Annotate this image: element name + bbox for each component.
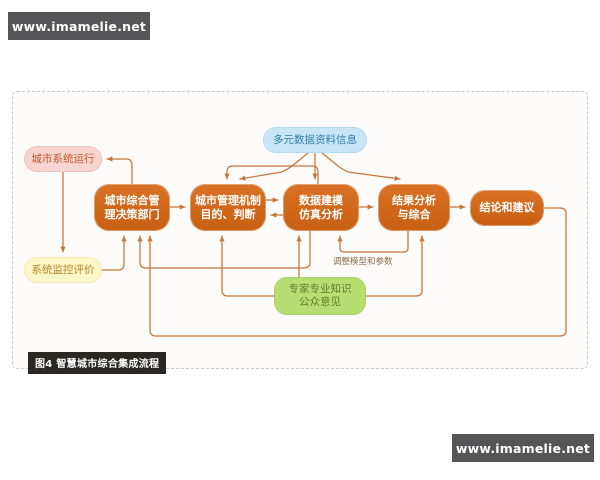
node-data-modeling[interactable]: 数据建模 仿真分析 <box>283 184 359 231</box>
node-conclusion[interactable]: 结论和建议 <box>470 190 544 226</box>
node-data-source[interactable]: 多元数据资料信息 <box>263 127 367 153</box>
node-city-system[interactable]: 城市系统运行 <box>24 146 102 172</box>
diagram-stage: www.imamelie.net www.imamelie.net <box>0 0 600 480</box>
node-result-analysis[interactable]: 结果分析 与综合 <box>378 184 450 231</box>
node-management-mechanism[interactable]: 城市管理机制 目的、判断 <box>190 184 266 231</box>
node-system-monitor[interactable]: 系统监控评价 <box>24 257 102 283</box>
node-city-management-dept[interactable]: 城市综合管 理决策部门 <box>94 184 170 231</box>
figure-caption: 图4 智慧城市综合集成流程 <box>28 352 166 374</box>
watermark-top: www.imamelie.net <box>8 12 150 40</box>
edge-label-adjust-model: 调整模型和参数 <box>333 255 393 267</box>
node-expert-knowledge[interactable]: 专家专业知识 公众意见 <box>274 277 366 315</box>
watermark-bottom: www.imamelie.net <box>452 434 594 462</box>
